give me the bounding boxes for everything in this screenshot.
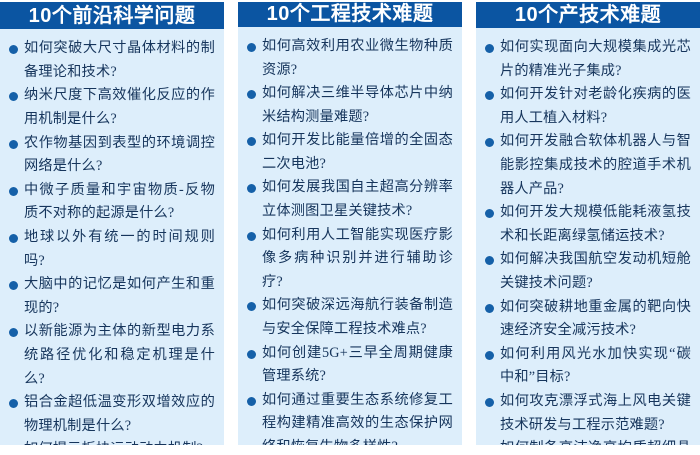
bullet-icon [485,209,494,218]
list-item: 大脑中的记忆是如何产生和重现的? [9,273,215,320]
column-panel: 10个产技术难题 如何实现面向大规模集成光芯片的精准光子集成? 如何开发针对老龄… [476,2,700,445]
list-item: 如何创建5G+三早全周期健康管理系统? [247,342,453,389]
column-divider [462,0,476,455]
list-item: 铝合金超低温变形双增效应的物理机制是什么? [9,391,215,438]
list-item: 如何开发融合软体机器人与智能影控集成技术的腔道手术机器人产品? [485,130,691,201]
question-list-frontier-science: 如何突破大尺寸晶体材料的制备理论和技术? 纳米尺度下高效催化反应的作用机制是什么… [9,37,215,445]
list-item-text: 以新能源为主体的新型电力系统路径优化和稳定机理是什么? [24,323,215,386]
list-item-text: 铝合金超低温变形双增效应的物理机制是什么? [24,394,215,434]
list-item: 如何开发比能量倍增的全固态二次电池? [247,129,453,176]
list-item-text: 如何解决我国航空发动机短舱关键技术问题? [500,251,691,291]
question-list-industry-technology: 如何实现面向大规模集成光芯片的精准光子集成? 如何开发针对老龄化疾病的医用人工植… [485,36,691,445]
list-item: 如何解决三维半导体芯片中纳米结构测量难题? [247,82,453,129]
bullet-icon [247,90,256,99]
bullet-icon [9,234,18,243]
bullet-icon [247,184,256,193]
list-item-text: 如何发展我国自主超高分辨率立体测图卫星关键技术? [262,179,453,219]
list-item-text: 如何开发比能量倍增的全固态二次电池? [262,132,453,172]
list-item-text: 农作物基因到表型的环境调控网络是什么? [24,135,215,175]
bullet-icon [485,138,494,147]
list-item-text: 大脑中的记忆是如何产生和重现的? [24,276,215,316]
list-item-text: 如何开发大规模低能耗液氢技术和长距离绿氢储运技术? [500,204,691,244]
column-panel: 10个工程技术难题 如何高效利用农业微生物种质资源? 如何解决三维半导体芯片中纳… [238,2,462,445]
column-header-industry-technology: 10个产技术难题 [476,2,700,28]
list-item-text: 纳米尺度下高效催化反应的作用机制是什么? [24,87,215,127]
column-title: 10个工程技术难题 [267,4,434,24]
list-item: 如何揭示板块运动动力机制? [9,438,215,445]
list-item-text: 如何制备高洁净高均质超细晶高端轴承钢材料? [500,440,691,445]
column-engineering-technology: 10个工程技术难题 如何高效利用农业微生物种质资源? 如何解决三维半导体芯片中纳… [238,0,462,455]
bullet-icon [485,304,494,313]
column-header-engineering-technology: 10个工程技术难题 [238,2,462,27]
bullet-icon [485,351,494,360]
bullet-icon [485,256,494,265]
list-item: 如何开发针对老龄化疾病的医用人工植入材料? [485,83,691,130]
column-header-frontier-science: 10个前沿科学问题 [0,2,224,29]
list-item: 如何通过重要生态系统修复工程构建精准高效的生态保护网络和恢复生物多样性? [247,389,453,445]
list-item: 如何利用风光水加快实现“碳中和”目标? [485,343,691,390]
list-item: 农作物基因到表型的环境调控网络是什么? [9,132,215,179]
column-industry-technology: 10个产技术难题 如何实现面向大规模集成光芯片的精准光子集成? 如何开发针对老龄… [476,0,700,455]
list-item-text: 如何利用人工智能实现医疗影像多病种识别并进行辅助诊疗? [262,227,453,290]
bullet-icon [9,281,18,290]
list-item-text: 地球以外有统一的时间规则吗? [24,229,215,269]
bullet-icon [9,45,18,54]
column-body: 如何突破大尺寸晶体材料的制备理论和技术? 纳米尺度下高效催化反应的作用机制是什么… [0,29,224,445]
bullet-icon [247,302,256,311]
bullet-icon [485,91,494,100]
list-item: 如何开发大规模低能耗液氢技术和长距离绿氢储运技术? [485,201,691,248]
list-item: 如何高效利用农业微生物种质资源? [247,35,453,82]
list-item: 地球以外有统一的时间规则吗? [9,226,215,273]
list-item: 如何实现面向大规模集成光芯片的精准光子集成? [485,36,691,83]
bullet-icon [9,328,18,337]
list-item-text: 如何实现面向大规模集成光芯片的精准光子集成? [500,39,691,79]
list-item-text: 如何攻克漂浮式海上风电关键技术研发与工程示范难题? [500,393,691,433]
list-item-text: 如何高效利用农业微生物种质资源? [262,38,453,78]
list-item-text: 中微子质量和宇宙物质-反物质不对称的起源是什么? [24,182,215,222]
list-item: 如何利用人工智能实现医疗影像多病种识别并进行辅助诊疗? [247,224,453,295]
bullet-icon [9,187,18,196]
bullet-icon [247,232,256,241]
question-list-engineering-technology: 如何高效利用农业微生物种质资源? 如何解决三维半导体芯片中纳米结构测量难题? 如… [247,35,453,445]
three-column-board: 10个前沿科学问题 如何突破大尺寸晶体材料的制备理论和技术? 纳米尺度下高效催化… [0,0,700,455]
column-panel: 10个前沿科学问题 如何突破大尺寸晶体材料的制备理论和技术? 纳米尺度下高效催化… [0,2,224,445]
bullet-icon [9,140,18,149]
bullet-icon [9,92,18,101]
list-item-text: 如何突破耕地重金属的靶向快速经济安全减污技术? [500,299,691,339]
bullet-icon [9,399,18,408]
list-item: 如何突破耕地重金属的靶向快速经济安全减污技术? [485,296,691,343]
list-item-text: 如何突破深远海航行装备制造与安全保障工程技术难点? [262,297,453,337]
bullet-icon [247,397,256,406]
bullet-icon [247,43,256,52]
list-item-text: 如何解决三维半导体芯片中纳米结构测量难题? [262,85,453,125]
bullet-icon [485,44,494,53]
list-item: 如何突破深远海航行装备制造与安全保障工程技术难点? [247,294,453,341]
column-title: 10个产技术难题 [515,5,661,25]
list-item-text: 如何利用风光水加快实现“碳中和”目标? [500,346,691,386]
column-frontier-science: 10个前沿科学问题 如何突破大尺寸晶体材料的制备理论和技术? 纳米尺度下高效催化… [0,0,224,455]
list-item: 以新能源为主体的新型电力系统路径优化和稳定机理是什么? [9,320,215,391]
list-item: 纳米尺度下高效催化反应的作用机制是什么? [9,84,215,131]
column-title: 10个前沿科学问题 [29,6,196,26]
list-item-text: 如何开发针对老龄化疾病的医用人工植入材料? [500,86,691,126]
list-item-text: 如何开发融合软体机器人与智能影控集成技术的腔道手术机器人产品? [500,133,691,196]
list-item-text: 如何通过重要生态系统修复工程构建精准高效的生态保护网络和恢复生物多样性? [262,392,453,445]
bullet-icon [485,398,494,407]
list-item: 如何制备高洁净高均质超细晶高端轴承钢材料? [485,437,691,445]
bullet-icon [247,350,256,359]
list-item: 中微子质量和宇宙物质-反物质不对称的起源是什么? [9,179,215,226]
list-item: 如何发展我国自主超高分辨率立体测图卫星关键技术? [247,176,453,223]
column-body: 如何实现面向大规模集成光芯片的精准光子集成? 如何开发针对老龄化疾病的医用人工植… [476,28,700,445]
list-item: 如何攻克漂浮式海上风电关键技术研发与工程示范难题? [485,390,691,437]
column-body: 如何高效利用农业微生物种质资源? 如何解决三维半导体芯片中纳米结构测量难题? 如… [238,27,462,445]
list-item: 如何突破大尺寸晶体材料的制备理论和技术? [9,37,215,84]
list-item-text: 如何揭示板块运动动力机制? [24,441,203,445]
column-divider [224,0,238,455]
list-item-text: 如何突破大尺寸晶体材料的制备理论和技术? [24,40,215,80]
list-item-text: 如何创建5G+三早全周期健康管理系统? [262,345,453,385]
list-item: 如何解决我国航空发动机短舱关键技术问题? [485,248,691,295]
bullet-icon [247,137,256,146]
